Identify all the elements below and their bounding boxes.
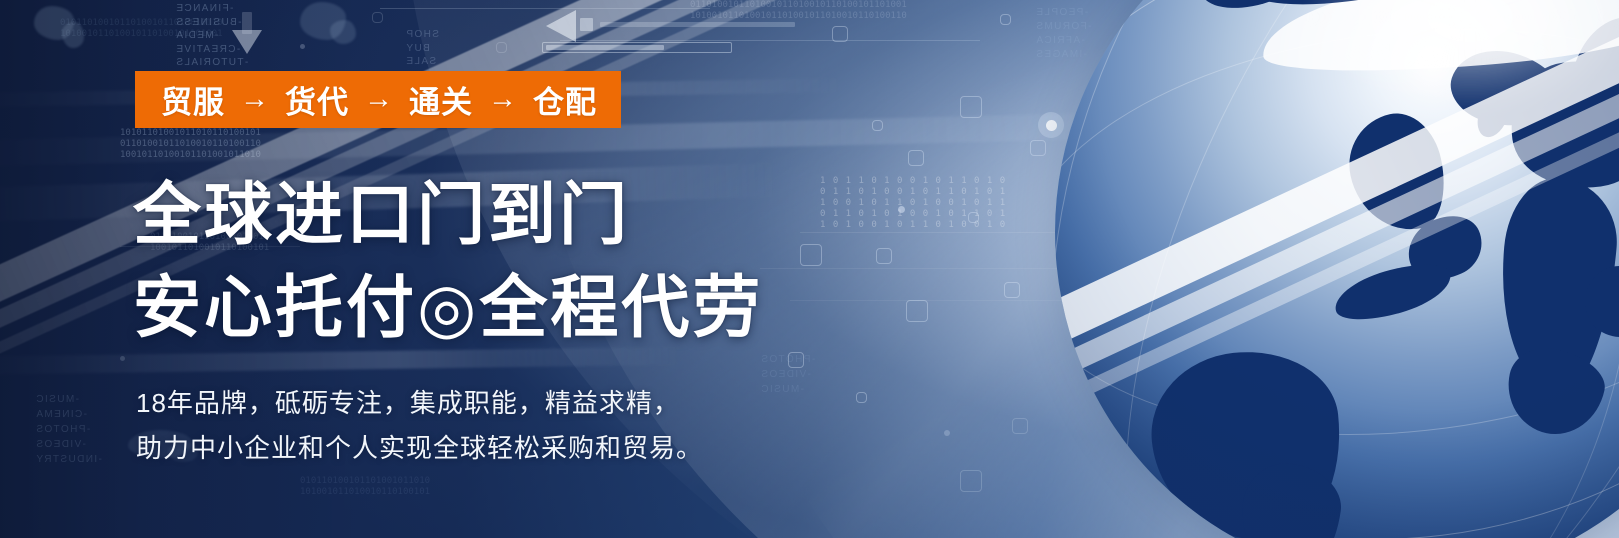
background-binary: 1 0 1 1 0 1 0 0 1 0 1 1 0 1 0 0 1 1 0 1 … — [820, 176, 1006, 231]
arrow-right-icon: → — [351, 83, 407, 116]
circuit-node — [908, 150, 924, 166]
circuit-node — [876, 248, 892, 264]
arrow-right-icon: → — [227, 83, 283, 116]
circuit-node — [832, 26, 848, 42]
circuit-dot — [898, 206, 905, 213]
headline-line-1: 全球进口门到门 — [133, 159, 630, 258]
circuit-node — [1030, 140, 1046, 156]
badge-segment-3: 通关 — [407, 77, 475, 122]
circuit-dot — [944, 430, 950, 436]
circuit-node — [906, 300, 928, 322]
subtext-line-1: 18年品牌，砥砺专注，集成职能，精益求精， — [136, 383, 680, 420]
circuit-node — [1004, 282, 1020, 298]
badge-segment-2: 货代 — [283, 77, 351, 122]
circuit-node — [1000, 14, 1011, 25]
headline-line-2: 安心托付◎全程代劳 — [133, 252, 763, 351]
circuit-node — [872, 120, 883, 131]
circuit-node — [856, 392, 867, 403]
service-flow-badge: 贸服 → 货代 → 通关 → 仓配 — [135, 71, 621, 128]
badge-segment-1: 贸服 — [159, 77, 227, 122]
circuit-node — [968, 212, 979, 223]
circuit-node — [788, 352, 804, 368]
arrow-right-icon: → — [475, 83, 531, 116]
globe-graphic — [1055, 0, 1619, 538]
circuit-node — [1012, 418, 1028, 434]
subtext-line-2: 助力中小企业和个人实现全球轻松采购和贸易。 — [136, 428, 703, 465]
banner-content: 贸服 → 货代 → 通关 → 仓配 全球进口门到门 安心托付◎全程代劳 18年品… — [0, 0, 760, 538]
globe-sphere — [1055, 0, 1619, 538]
circuit-node — [800, 244, 822, 266]
circuit-node — [960, 96, 982, 118]
badge-segment-4: 仓配 — [531, 77, 599, 122]
circuit-node — [960, 470, 982, 492]
promo-banner: -FINANCE -BUSINESS -MEDIA -CREATIVE -TUT… — [0, 0, 1619, 538]
